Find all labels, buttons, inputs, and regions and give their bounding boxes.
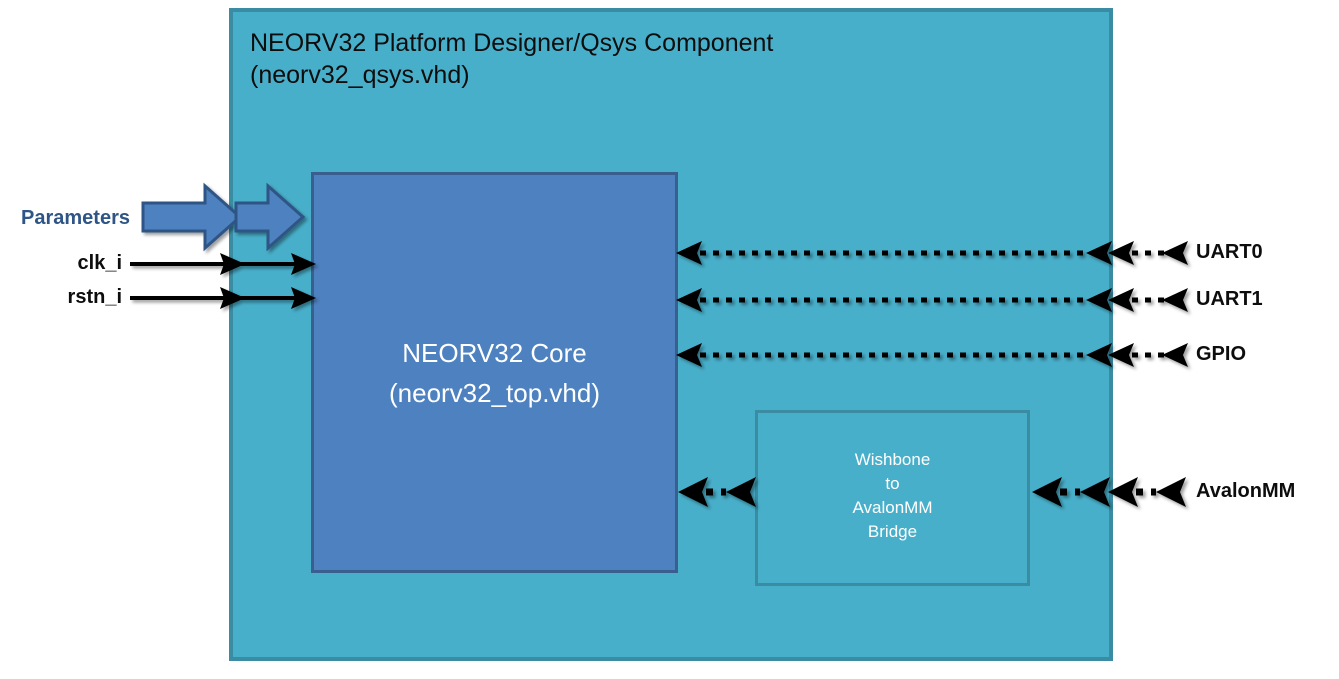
gpio-label: GPIO	[1196, 343, 1246, 366]
rstn-input-label: rstn_i	[0, 286, 122, 309]
neorv32-core-label: NEORV32 Core (neorv32_top.vhd)	[311, 333, 678, 413]
parameters-label: Parameters	[10, 207, 130, 230]
qsys-component-title: NEORV32 Platform Designer/Qsys Component…	[250, 27, 950, 91]
uart0-label: UART0	[1196, 241, 1263, 264]
avalonmm-label: AvalonMM	[1196, 480, 1295, 503]
uart1-label: UART1	[1196, 288, 1263, 311]
wishbone-avalonmm-bridge-label: Wishbone to AvalonMM Bridge	[755, 448, 1030, 544]
clk-input-label: clk_i	[0, 252, 122, 275]
diagram-canvas: NEORV32 Platform Designer/Qsys Component…	[0, 0, 1339, 679]
